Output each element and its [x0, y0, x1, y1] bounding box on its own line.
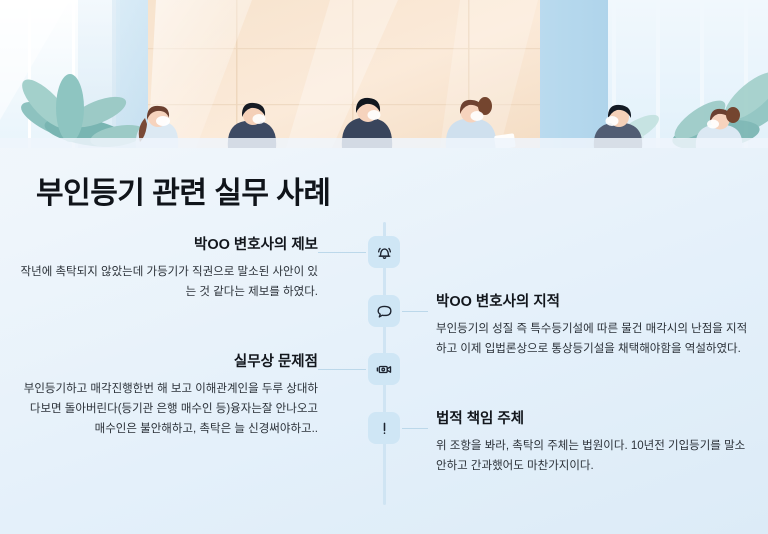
- timeline-block-1: 박OO 변호사의 제보 작년에 촉탁되지 않았는데 가등기가 직권으로 말소된 …: [18, 233, 318, 303]
- timeline-heading-2: 박OO 변호사의 지적: [436, 290, 750, 311]
- timeline-node-exclamation[interactable]: [368, 412, 400, 444]
- timeline-body-4: 위 조항을 봐라, 촉탁의 주체는 법원이다. 10년전 기입등기를 말소 안하…: [436, 437, 750, 477]
- bell-icon: [375, 243, 394, 262]
- timeline-heading-3: 실무상 문제점: [18, 350, 318, 371]
- speech-bubble-icon: [375, 302, 394, 321]
- timeline-block-3: 실무상 문제점 부인등기하고 매각진행한번 해 보고 이해관계인을 두루 상대하…: [18, 350, 318, 439]
- timeline-body-3: 부인등기하고 매각진행한번 해 보고 이해관계인을 두루 상대하다보면 돌아버린…: [18, 380, 318, 439]
- timeline-heading-4: 법적 책임 주체: [436, 407, 750, 428]
- timeline-connector-4: [402, 428, 428, 429]
- timeline-connector-1: [318, 252, 366, 253]
- content-panel: 부인등기 관련 실무 사례 박OO 변호사의 제보 작년에 촉탁되지 않았는데 …: [0, 148, 768, 534]
- exclamation-icon: [375, 419, 394, 438]
- slide-root: 부인등기 관련 실무 사례 박OO 변호사의 제보 작년에 촉탁되지 않았는데 …: [0, 0, 768, 534]
- timeline-connector-2: [402, 311, 428, 312]
- timeline-node-speech[interactable]: [368, 295, 400, 327]
- page-title: 부인등기 관련 실무 사례: [36, 168, 331, 212]
- timeline-node-camera[interactable]: [368, 353, 400, 385]
- timeline-block-4: 법적 책임 주체 위 조항을 봐라, 촉탁의 주체는 법원이다. 10년전 기입…: [436, 407, 750, 477]
- timeline-node-bell[interactable]: [368, 236, 400, 268]
- office-scene-graphic: [0, 0, 768, 148]
- timeline-connector-3: [318, 369, 366, 370]
- hero-illustration: [0, 0, 768, 148]
- timeline-body-1: 작년에 촉탁되지 않았는데 가등기가 직권으로 말소된 사안이 있는 것 같다는…: [18, 263, 318, 303]
- timeline-heading-1: 박OO 변호사의 제보: [18, 233, 318, 254]
- timeline-body-2: 부인등기의 성질 즉 특수등기설에 따른 물건 매각시의 난점을 지적하고 이제…: [436, 320, 750, 360]
- timeline-block-2: 박OO 변호사의 지적 부인등기의 성질 즉 특수등기설에 따른 물건 매각시의…: [436, 290, 750, 360]
- camera-icon: [375, 360, 394, 379]
